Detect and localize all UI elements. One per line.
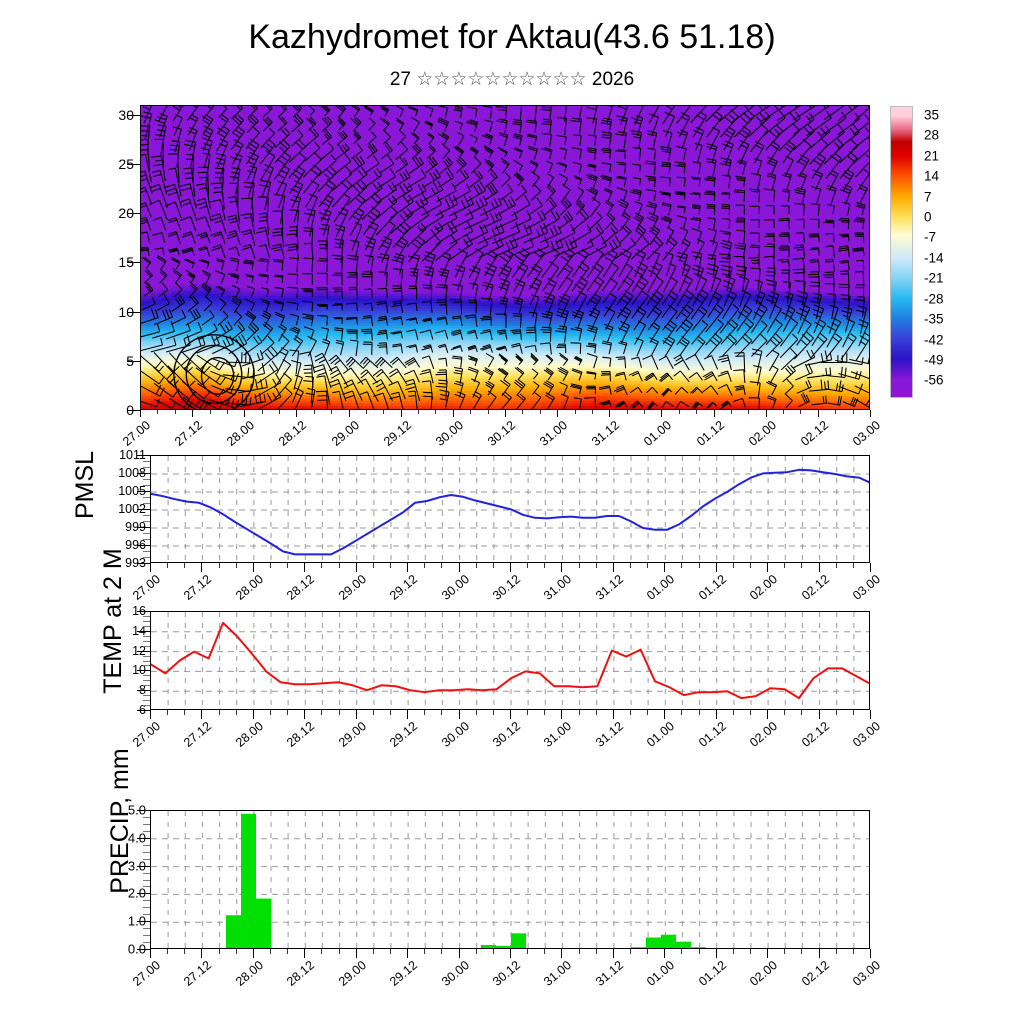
x-tick-major (356, 710, 357, 719)
x-tick-minor (750, 949, 751, 954)
x-tick-minor (731, 410, 732, 414)
x-tick-minor (339, 563, 340, 568)
x-tick-label: 02.12 (799, 719, 832, 750)
x-tick-major (304, 563, 305, 572)
x-tick-minor (424, 563, 425, 568)
x-tick-minor (339, 949, 340, 954)
x-tick-minor (167, 949, 168, 954)
x-tick-label: 29.00 (336, 958, 369, 989)
x-tick-major (767, 710, 768, 719)
colorbar-tick-label: 14 (924, 169, 939, 184)
temp-plot-area (150, 611, 870, 710)
y-tick-label: 0.0 (128, 942, 146, 957)
x-tick-label: 01.00 (644, 958, 677, 989)
x-tick-minor (236, 710, 237, 715)
x-tick-minor (493, 949, 494, 954)
y-tick-label: 2.0 (128, 886, 146, 901)
x-tick-minor (801, 949, 802, 954)
x-tick-minor (339, 710, 340, 715)
x-tick-major (150, 563, 151, 572)
x-tick-label: 28.12 (276, 418, 309, 449)
x-tick-major (201, 563, 202, 572)
temp-axis-title: TEMP at 2 M (97, 526, 129, 716)
precip-bar (241, 814, 256, 949)
x-tick-minor (435, 410, 436, 414)
x-tick-minor (630, 710, 631, 715)
x-tick-minor (575, 410, 576, 414)
x-tick-label: 30.00 (439, 958, 472, 989)
x-tick-label: 02.00 (747, 572, 780, 603)
x-tick-minor (476, 563, 477, 568)
x-tick-minor (441, 563, 442, 568)
y-tick-minor (143, 503, 150, 504)
y-tick-minor (143, 914, 150, 915)
x-tick-major (253, 710, 254, 719)
colorbar-tick-label: 21 (924, 148, 939, 163)
x-tick-label: 31.00 (541, 572, 574, 603)
x-tick-major (459, 710, 460, 719)
x-tick-label: 29.12 (387, 719, 420, 750)
x-tick-major (716, 949, 717, 958)
x-tick-label: 27.12 (172, 418, 205, 449)
x-tick-minor (853, 410, 854, 414)
x-tick-minor (750, 563, 751, 568)
x-tick-major (510, 563, 511, 572)
colorbar-tick-label: 7 (924, 189, 932, 204)
x-tick-minor (236, 949, 237, 954)
x-tick-minor (287, 710, 288, 715)
x-tick-minor (476, 710, 477, 715)
x-tick-minor (853, 563, 854, 568)
x-tick-minor (681, 710, 682, 715)
y-tick-label: 1002 (118, 502, 146, 516)
x-tick-major (244, 410, 245, 417)
x-tick-minor (321, 563, 322, 568)
y-tick-minor (143, 824, 150, 825)
y-tick-minor (143, 852, 150, 853)
precip-plot-area (150, 810, 870, 949)
x-tick-major (714, 410, 715, 417)
colorbar-tick-label: -7 (924, 230, 936, 245)
x-tick-minor (836, 710, 837, 715)
precip-bar (766, 948, 781, 949)
x-tick-minor (167, 563, 168, 568)
y-tick-label: 25 (118, 156, 134, 172)
x-tick-minor (679, 410, 680, 414)
x-tick-minor (321, 710, 322, 715)
x-tick-label: 28.12 (284, 572, 317, 603)
x-tick-minor (219, 949, 220, 954)
y-tick-minor (143, 641, 150, 642)
x-tick-label: 02.12 (799, 958, 832, 989)
x-tick-major (609, 410, 610, 417)
precip-bar (271, 948, 286, 949)
x-tick-major (401, 410, 402, 417)
y-tick-minor (143, 859, 150, 860)
y-tick-minor (143, 665, 150, 666)
x-tick-minor (853, 949, 854, 954)
precip-bar (511, 933, 526, 949)
y-tick-label: 1008 (118, 466, 146, 480)
x-tick-minor (681, 563, 682, 568)
y-tick-minor (143, 521, 150, 522)
x-tick-minor (596, 563, 597, 568)
colorbar-tick-label: -14 (924, 250, 944, 265)
x-tick-major (459, 949, 460, 958)
x-tick-minor (476, 949, 477, 954)
x-tick-minor (540, 410, 541, 414)
x-tick-minor (522, 410, 523, 414)
x-tick-major (140, 410, 141, 417)
x-tick-minor (373, 949, 374, 954)
y-tick-label: 20 (118, 205, 134, 221)
colorbar-tick-label: 0 (924, 209, 932, 224)
y-tick-label: 30 (118, 107, 134, 123)
x-tick-label: 01.12 (694, 418, 727, 449)
temperature-colorbar (890, 106, 913, 398)
x-tick-minor (184, 710, 185, 715)
x-tick-label: 27.00 (130, 572, 163, 603)
y-tick-minor (143, 557, 150, 558)
x-tick-minor (681, 949, 682, 954)
colorbar-tick-label: -56 (924, 373, 944, 388)
x-tick-minor (488, 410, 489, 414)
x-tick-minor (236, 563, 237, 568)
x-tick-label: 03.00 (850, 719, 883, 750)
y-tick-minor (143, 621, 150, 622)
x-tick-major (561, 710, 562, 719)
y-tick-label: 0 (126, 402, 134, 418)
x-tick-major (819, 563, 820, 572)
y-tick-label: 1.0 (128, 914, 146, 929)
upper-air-plot-area (140, 105, 870, 410)
x-tick-label: 28.00 (233, 958, 266, 989)
x-tick-minor (733, 563, 734, 568)
x-tick-minor (544, 949, 545, 954)
x-tick-minor (783, 410, 784, 414)
precip-bar (226, 915, 241, 949)
x-tick-label: 01.00 (644, 572, 677, 603)
x-tick-label: 31.12 (593, 719, 626, 750)
x-tick-label: 29.12 (387, 958, 420, 989)
x-tick-minor (390, 949, 391, 954)
precip-bar (496, 946, 511, 949)
x-tick-minor (784, 563, 785, 568)
x-tick-label: 29.00 (336, 572, 369, 603)
x-tick-minor (800, 410, 801, 414)
x-tick-label: 28.00 (224, 418, 257, 449)
x-tick-label: 03.00 (850, 418, 883, 449)
x-tick-major (459, 563, 460, 572)
x-tick-minor (544, 563, 545, 568)
x-tick-minor (596, 949, 597, 954)
x-tick-label: 27.00 (120, 418, 153, 449)
x-tick-major (661, 410, 662, 417)
x-tick-minor (441, 949, 442, 954)
x-tick-label: 27.12 (181, 572, 214, 603)
x-tick-minor (493, 710, 494, 715)
x-tick-label: 30.12 (485, 418, 518, 449)
x-tick-label: 31.12 (593, 572, 626, 603)
x-tick-minor (630, 563, 631, 568)
x-tick-minor (383, 410, 384, 414)
x-tick-minor (331, 410, 332, 414)
x-tick-major (150, 710, 151, 719)
y-tick-minor (143, 880, 150, 881)
x-tick-label: 28.12 (284, 719, 317, 750)
x-tick-minor (219, 563, 220, 568)
x-tick-major (201, 949, 202, 958)
x-tick-label: 30.00 (439, 719, 472, 750)
y-tick-label: 1005 (118, 484, 146, 498)
x-tick-major (664, 563, 665, 572)
y-tick-minor (143, 942, 150, 943)
x-tick-label: 02.12 (798, 418, 831, 449)
x-tick-major (192, 410, 193, 417)
y-tick-minor (143, 467, 150, 468)
x-tick-label: 30.12 (490, 572, 523, 603)
x-tick-label: 28.12 (284, 958, 317, 989)
pmsl-axis-title: PMSL (70, 440, 100, 530)
x-tick-label: 01.12 (696, 572, 729, 603)
x-tick-minor (321, 949, 322, 954)
x-tick-label: 02.12 (799, 572, 832, 603)
x-tick-minor (390, 710, 391, 715)
x-tick-minor (314, 410, 315, 414)
x-tick-label: 29.00 (336, 719, 369, 750)
x-tick-minor (544, 710, 545, 715)
x-tick-minor (287, 563, 288, 568)
x-tick-label: 30.12 (490, 958, 523, 989)
x-tick-major (356, 949, 357, 958)
x-tick-minor (748, 410, 749, 414)
x-tick-label: 31.12 (589, 418, 622, 449)
x-tick-major (664, 710, 665, 719)
x-tick-label: 01.00 (644, 719, 677, 750)
x-tick-minor (527, 949, 528, 954)
x-tick-major (453, 410, 454, 417)
x-tick-minor (184, 563, 185, 568)
x-tick-label: 30.00 (433, 418, 466, 449)
x-tick-major (407, 563, 408, 572)
x-tick-major (505, 410, 506, 417)
y-tick-minor (143, 700, 150, 701)
x-tick-label: 29.00 (329, 418, 362, 449)
y-tick-minor (143, 685, 150, 686)
x-tick-label: 03.00 (850, 958, 883, 989)
x-tick-minor (784, 710, 785, 715)
upper-air-panel: 051015202530 27.0027.1228.0028.1229.0029… (0, 0, 1024, 460)
x-tick-major (819, 710, 820, 719)
chart-page: Kazhydromet for Aktau(43.6 51.18) 27 ☆☆☆… (0, 0, 1024, 1024)
x-tick-major (557, 410, 558, 417)
colorbar-tick-label: -42 (924, 332, 944, 347)
x-tick-major (766, 410, 767, 417)
x-tick-label: 28.00 (233, 719, 266, 750)
x-tick-label: 31.12 (593, 958, 626, 989)
x-tick-major (407, 949, 408, 958)
colorbar-tick-label: 28 (924, 128, 939, 143)
x-tick-major (253, 563, 254, 572)
x-tick-minor (733, 949, 734, 954)
y-tick-minor (143, 907, 150, 908)
y-tick-minor (143, 661, 150, 662)
x-tick-label: 30.12 (490, 719, 523, 750)
x-tick-minor (373, 563, 374, 568)
x-tick-minor (801, 710, 802, 715)
y-tick-label: 5 (126, 353, 134, 369)
x-tick-major (304, 710, 305, 719)
x-tick-major (561, 949, 562, 958)
x-tick-label: 31.00 (537, 418, 570, 449)
x-tick-minor (647, 949, 648, 954)
x-tick-minor (175, 410, 176, 414)
x-tick-label: 28.00 (233, 572, 266, 603)
x-tick-major (613, 563, 614, 572)
x-tick-minor (579, 563, 580, 568)
x-tick-major (767, 949, 768, 958)
precip-bar (676, 942, 691, 949)
x-tick-minor (527, 710, 528, 715)
x-tick-major (716, 563, 717, 572)
x-tick-major (296, 410, 297, 417)
x-tick-minor (696, 410, 697, 414)
x-tick-minor (493, 563, 494, 568)
x-tick-major (150, 949, 151, 958)
x-tick-major (716, 710, 717, 719)
x-tick-minor (287, 949, 288, 954)
x-tick-major (613, 710, 614, 719)
precip-bar (631, 947, 646, 949)
x-tick-label: 31.00 (541, 719, 574, 750)
x-tick-label: 02.00 (746, 418, 779, 449)
x-tick-minor (373, 710, 374, 715)
x-tick-major (767, 563, 768, 572)
y-tick-minor (143, 935, 150, 936)
x-tick-minor (836, 563, 837, 568)
x-tick-label: 30.00 (439, 572, 472, 603)
x-tick-label: 01.12 (696, 958, 729, 989)
x-tick-minor (167, 710, 168, 715)
x-tick-label: 29.12 (387, 572, 420, 603)
x-tick-minor (424, 710, 425, 715)
x-tick-minor (270, 949, 271, 954)
x-tick-minor (750, 710, 751, 715)
x-tick-major (870, 710, 871, 719)
x-tick-major (201, 710, 202, 719)
x-tick-label: 02.00 (747, 719, 780, 750)
x-tick-minor (366, 410, 367, 414)
y-tick-minor (143, 705, 150, 706)
x-tick-minor (699, 949, 700, 954)
x-tick-minor (157, 410, 158, 414)
x-tick-minor (470, 410, 471, 414)
x-tick-label: 01.00 (641, 418, 674, 449)
x-tick-label: 27.12 (181, 958, 214, 989)
x-tick-minor (627, 410, 628, 414)
x-tick-minor (647, 710, 648, 715)
y-tick-label: 5.0 (128, 803, 146, 818)
x-tick-minor (699, 710, 700, 715)
y-tick-minor (143, 886, 150, 887)
x-tick-minor (733, 710, 734, 715)
x-tick-minor (644, 410, 645, 414)
x-tick-major (664, 949, 665, 958)
colorbar-tick-label: -28 (924, 291, 944, 306)
x-tick-label: 02.00 (747, 958, 780, 989)
y-tick-label: 3.0 (128, 858, 146, 873)
y-tick-label: 1011 (119, 448, 146, 462)
x-tick-major (253, 949, 254, 958)
x-tick-minor (527, 563, 528, 568)
colorbar-tick-label: -49 (924, 353, 944, 368)
x-tick-major (818, 410, 819, 417)
x-tick-minor (596, 710, 597, 715)
x-tick-minor (835, 410, 836, 414)
y-tick-minor (143, 831, 150, 832)
x-tick-label: 29.12 (381, 418, 414, 449)
x-tick-label: 27.00 (130, 958, 163, 989)
x-tick-minor (262, 410, 263, 414)
x-tick-minor (424, 949, 425, 954)
y-tick-minor (143, 539, 150, 540)
x-tick-major (870, 410, 871, 417)
x-tick-major (356, 563, 357, 572)
x-tick-minor (279, 410, 280, 414)
x-tick-minor (441, 710, 442, 715)
x-tick-label: 03.00 (850, 572, 883, 603)
pmsl-plot-area (150, 455, 870, 563)
x-tick-major (561, 563, 562, 572)
y-tick-minor (143, 485, 150, 486)
colorbar-tick-label: -35 (924, 312, 944, 327)
x-tick-minor (630, 949, 631, 954)
x-tick-label: 31.00 (541, 958, 574, 989)
x-tick-minor (219, 710, 220, 715)
y-tick-label: 15 (118, 254, 134, 270)
x-tick-minor (853, 710, 854, 715)
x-tick-label: 01.12 (696, 719, 729, 750)
x-tick-label: 27.12 (181, 719, 214, 750)
x-tick-major (819, 949, 820, 958)
y-tick-label: 4.0 (128, 830, 146, 845)
x-tick-minor (418, 410, 419, 414)
x-tick-minor (184, 949, 185, 954)
y-tick-minor (143, 680, 150, 681)
x-tick-minor (270, 710, 271, 715)
x-tick-major (304, 949, 305, 958)
y-tick-minor (143, 626, 150, 627)
x-tick-minor (270, 563, 271, 568)
x-tick-minor (390, 563, 391, 568)
x-tick-minor (801, 563, 802, 568)
x-tick-major (510, 710, 511, 719)
x-tick-major (407, 710, 408, 719)
x-tick-minor (579, 710, 580, 715)
x-tick-minor (784, 949, 785, 954)
x-tick-minor (836, 949, 837, 954)
x-tick-major (870, 563, 871, 572)
x-tick-major (510, 949, 511, 958)
x-tick-minor (699, 563, 700, 568)
x-tick-major (870, 949, 871, 958)
precip-bar (256, 899, 271, 949)
x-tick-minor (210, 410, 211, 414)
colorbar-tick-label: 35 (924, 107, 939, 122)
y-tick-minor (143, 646, 150, 647)
x-tick-minor (592, 410, 593, 414)
x-tick-minor (227, 410, 228, 414)
